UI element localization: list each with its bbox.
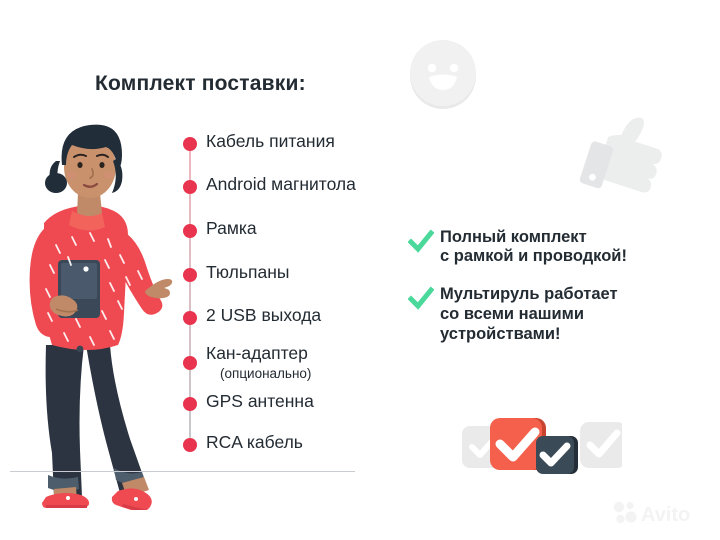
highlight-list: Полный комплект с рамкой и проводкой! Му… (408, 228, 688, 362)
list-item: Рамка (180, 219, 430, 263)
check-mark-icon (408, 229, 434, 255)
list-item-label: RCA кабель (206, 432, 303, 452)
list-item: Кабель питания (180, 132, 430, 175)
list-item-label: Тюльпаны (206, 262, 289, 282)
list-item-note: (опционально) (220, 366, 311, 381)
thumbs-up-icon (578, 108, 676, 212)
delivery-set-list: Кабель питания Android магнитола Рамка Т… (180, 132, 430, 467)
list-item: Кан-адаптер (опционально) (180, 344, 430, 392)
bullet-dot (183, 438, 197, 452)
highlight-text: Мультируль работает со всеми нашими устр… (440, 285, 618, 344)
bullet-dot (183, 137, 197, 151)
bullet-dot (183, 397, 197, 411)
smiley-face-icon (405, 36, 481, 112)
list-item: RCA кабель (180, 433, 430, 467)
highlight-item: Мультируль работает со всеми нашими устр… (408, 285, 688, 344)
checkbox-cluster-icon (462, 414, 622, 486)
avito-wordmark: Avito (641, 504, 690, 526)
list-item-label: GPS антенна (206, 391, 314, 411)
woman-with-tablet-illustration (10, 105, 180, 510)
avito-watermark: Avito (612, 498, 710, 528)
bullet-dot (183, 356, 197, 370)
list-item-label: Рамка (206, 218, 257, 238)
bullet-dot (183, 311, 197, 325)
list-item: 2 USB выхода (180, 306, 430, 344)
bullet-dot (183, 180, 197, 194)
check-mark-icon (408, 286, 434, 312)
list-item: Тюльпаны (180, 263, 430, 306)
list-item-label: Android магнитола (206, 174, 356, 194)
highlight-text: Полный комплект с рамкой и проводкой! (440, 228, 627, 267)
bullet-dot (183, 224, 197, 238)
page-title: Комплект поставки: (95, 72, 306, 96)
list-item-label: 2 USB выхода (206, 305, 321, 325)
list-item-label: Кабель питания (206, 131, 335, 151)
ground-line (10, 471, 355, 472)
highlight-item: Полный комплект с рамкой и проводкой! (408, 228, 688, 267)
list-item: Android магнитола (180, 175, 430, 219)
bullet-dot (183, 268, 197, 282)
list-item-label: Кан-адаптер (206, 343, 308, 363)
list-item: GPS антенна (180, 392, 430, 433)
promo-canvas: Комплект поставки: Кабель питания Androi… (0, 0, 720, 540)
